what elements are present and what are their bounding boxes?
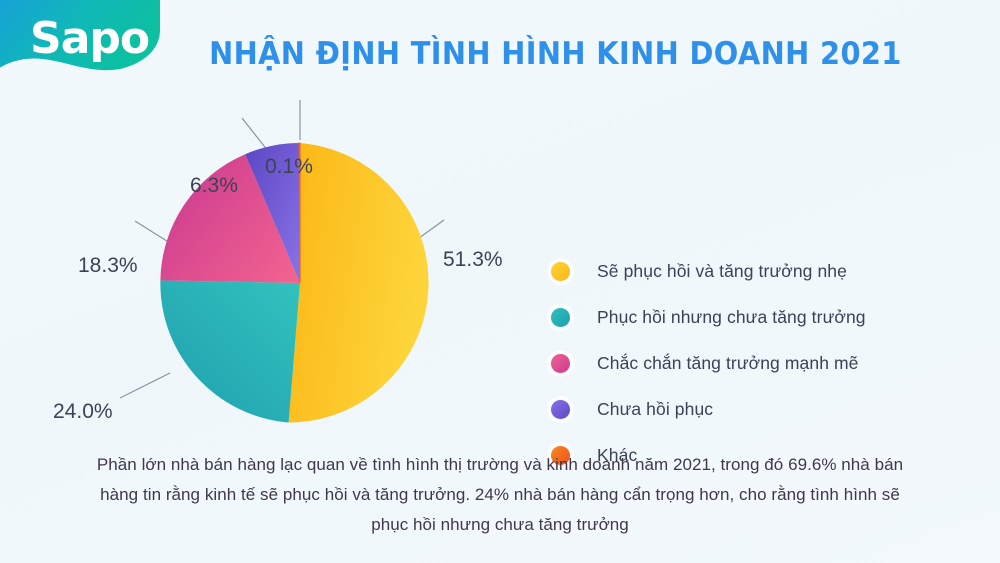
- legend-swatch-icon: [551, 400, 570, 419]
- pie-slice-0[interactable]: [289, 143, 429, 423]
- legend-item-label: Phục hồi nhưng chưa tăng trưởng: [597, 307, 866, 328]
- legend-item-label: Chắc chắn tăng trưởng mạnh mẽ: [597, 353, 859, 374]
- legend-item-label: Chưa hồi phục: [597, 399, 713, 420]
- legend-swatch-icon: [551, 354, 570, 373]
- slice-percent-label: 24.0%: [53, 400, 113, 424]
- legend-swatch-icon: [551, 262, 570, 281]
- slice-percent-label: 6.3%: [190, 174, 238, 198]
- page-title: NHẬN ĐỊNH TÌNH HÌNH KINH DOANH 2021: [209, 36, 823, 72]
- legend-item[interactable]: Chưa hồi phục: [551, 386, 971, 432]
- legend-item[interactable]: Chắc chắn tăng trưởng mạnh mẽ: [551, 340, 971, 386]
- chart-caption: Phần lớn nhà bán hàng lạc quan về tình h…: [95, 450, 905, 540]
- chart-legend: Sẽ phục hồi và tăng trưởng nhẹ Phục hồi …: [551, 248, 971, 478]
- pie-slice-1[interactable]: [160, 280, 300, 422]
- legend-item-label: Sẽ phục hồi và tăng trưởng nhẹ: [597, 261, 847, 282]
- slice-percent-label: 51.3%: [443, 248, 503, 272]
- pie-chart: 51.3% 24.0% 18.3% 6.3% 0.1% Sẽ phục hồi …: [0, 78, 1000, 443]
- slice-percent-label: 0.1%: [265, 155, 313, 179]
- legend-swatch-icon: [551, 308, 570, 327]
- logo-wordmark: Sapo: [30, 17, 149, 61]
- legend-item[interactable]: Phục hồi nhưng chưa tăng trưởng: [551, 294, 971, 340]
- slice-percent-label: 18.3%: [78, 254, 138, 278]
- infographic-page: Sapo NHẬN ĐỊNH TÌNH HÌNH KINH DOANH 2021: [0, 0, 1000, 563]
- legend-item[interactable]: Sẽ phục hồi và tăng trưởng nhẹ: [551, 248, 971, 294]
